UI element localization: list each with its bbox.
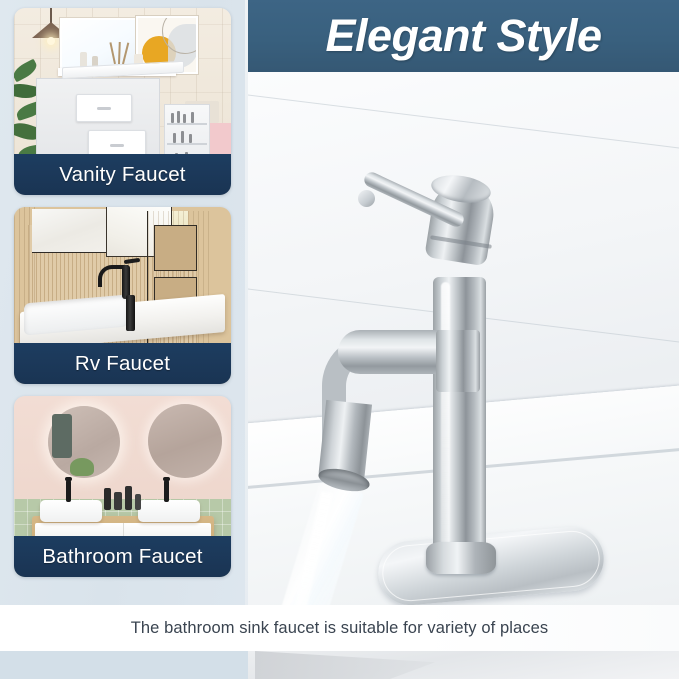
soap-dispenser-2	[114, 492, 122, 510]
rack-bottle	[189, 134, 192, 143]
spout-riser	[436, 330, 480, 392]
thumbnail-bathroom-faucet[interactable]: Bathroom Faucet	[14, 396, 231, 577]
rack-shelf	[167, 123, 207, 125]
soap-dispenser-1	[104, 488, 111, 510]
hero-section: Elegant Style	[248, 0, 679, 605]
mirror-reflection-plant	[70, 458, 94, 476]
thumbnail-vanity-faucet[interactable]: Vanity Faucet	[14, 8, 231, 195]
rack-bottle	[171, 113, 174, 123]
hero-banner: Elegant Style	[248, 0, 679, 72]
rack-shelf	[167, 143, 207, 145]
shelf-compartment	[154, 225, 197, 271]
diffuser-reed	[118, 42, 120, 64]
soap-dispenser-3	[125, 486, 132, 510]
round-mirror-left	[48, 406, 120, 478]
faucet-assembly	[248, 72, 679, 605]
product-infographic: Vanity Faucet	[0, 0, 679, 679]
vessel-sink-right	[138, 500, 200, 522]
pendant-lamp-cord	[50, 8, 52, 24]
thumbnail-label-bathroom-faucet: Bathroom Faucet	[14, 536, 231, 577]
caption-text: The bathroom sink faucet is suitable for…	[131, 619, 549, 638]
vessel-sink-left	[40, 500, 102, 522]
thumbnail-label-rv-faucet: Rv Faucet	[14, 343, 231, 384]
hero-product-photo	[248, 72, 679, 605]
thumbnail-label-vanity-faucet: Vanity Faucet	[14, 154, 231, 195]
cabinet-drawer-upper	[76, 94, 132, 122]
black-faucet-left	[66, 480, 71, 502]
caption-band: The bathroom sink faucet is suitable for…	[0, 605, 679, 651]
black-faucet-base	[126, 295, 135, 331]
rack-bottle	[177, 111, 180, 123]
rack-bottle	[183, 114, 186, 123]
faucet-body-highlight	[441, 282, 450, 564]
black-faucet-neck	[122, 265, 130, 299]
thumbnail-rv-faucet[interactable]: Rv Faucet	[14, 207, 231, 384]
soap-dispenser-4	[135, 494, 141, 510]
lever-handle-tip[interactable]	[358, 190, 375, 207]
rack-bottle	[181, 131, 184, 143]
lamp-bulb-glow	[47, 37, 55, 45]
faucet-base-collar	[426, 542, 496, 574]
rack-bottle	[191, 112, 194, 123]
mirror-reflection-door	[52, 414, 72, 458]
round-mirror-right	[148, 404, 222, 478]
use-case-thumbnail-column: Vanity Faucet	[0, 0, 245, 605]
black-faucet-right	[164, 480, 169, 502]
wall-mirror	[60, 18, 142, 70]
rack-bottle	[173, 133, 176, 143]
hero-banner-title: Elegant Style	[325, 10, 601, 62]
footer-left-fill	[0, 651, 248, 679]
